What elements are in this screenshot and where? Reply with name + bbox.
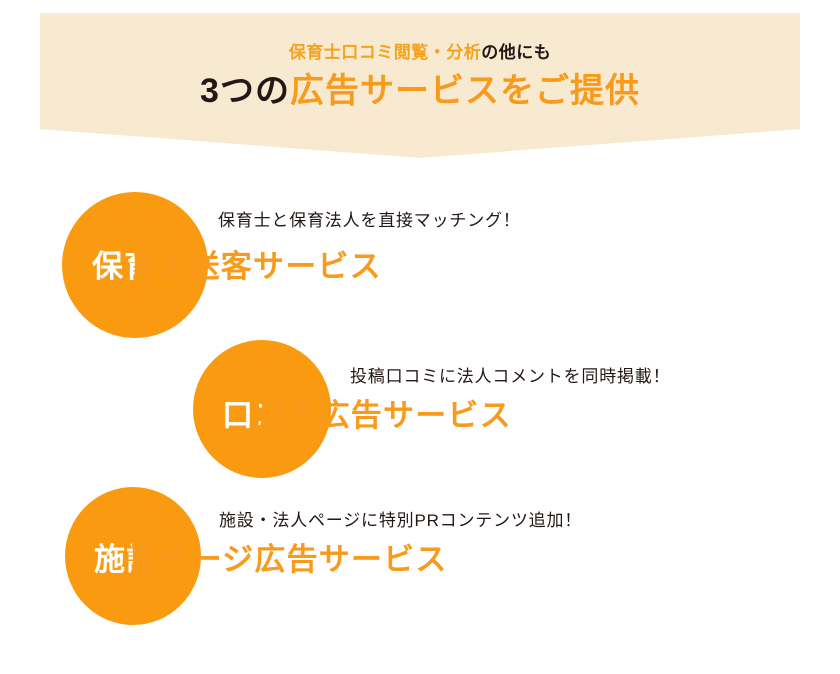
banner-subtitle: 保育士口コミ閲覧・分析の他にも xyxy=(40,43,800,63)
service-description-2: 投稿口コミに法人コメントを同時掲載！ xyxy=(350,366,670,387)
banner-subtitle-rest: の他にも xyxy=(481,43,551,62)
service-description-3: 施設・法人ページに特別PRコンテンツ追加！ xyxy=(219,510,582,531)
service-name-2: 口コミ広告サービス 口コミ広告サービス xyxy=(222,397,512,434)
service-name-1: 保育士送客サービス 保育士送客サービス xyxy=(92,248,382,285)
service-item-2: 投稿口コミに法人コメントを同時掲載！ 口コミ広告サービス 口コミ広告サービス xyxy=(0,340,840,485)
service-name-3-base: 施設ページ広告サービス xyxy=(94,542,448,577)
header-banner: 保育士口コミ閲覧・分析の他にも 3つの広告サービスをご提供 xyxy=(40,13,800,158)
banner-title-prefix: 3つの xyxy=(200,72,290,110)
promo-graphic: 保育士口コミ閲覧・分析の他にも 3つの広告サービスをご提供 保育士と保育法人を直… xyxy=(0,0,840,674)
service-name-2-base: 口コミ広告サービス xyxy=(222,398,512,433)
service-item-3: 施設・法人ページに特別PRコンテンツ追加！ 施設ページ広告サービス 施設ページ広… xyxy=(0,487,840,632)
service-item-1: 保育士と保育法人を直接マッチング！ 保育士送客サービス 保育士送客サービス xyxy=(0,192,840,342)
service-description-1: 保育士と保育法人を直接マッチング！ xyxy=(218,210,521,231)
service-name-3: 施設ページ広告サービス 施設ページ広告サービス xyxy=(94,541,448,578)
banner-title-highlight: 広告サービスをご提供 xyxy=(290,72,640,110)
header-banner-content: 保育士口コミ閲覧・分析の他にも 3つの広告サービスをご提供 xyxy=(40,43,800,111)
service-name-1-base: 保育士送客サービス xyxy=(92,249,382,284)
banner-title: 3つの広告サービスをご提供 xyxy=(40,72,800,111)
banner-subtitle-highlight: 保育士口コミ閲覧・分析 xyxy=(289,43,482,62)
